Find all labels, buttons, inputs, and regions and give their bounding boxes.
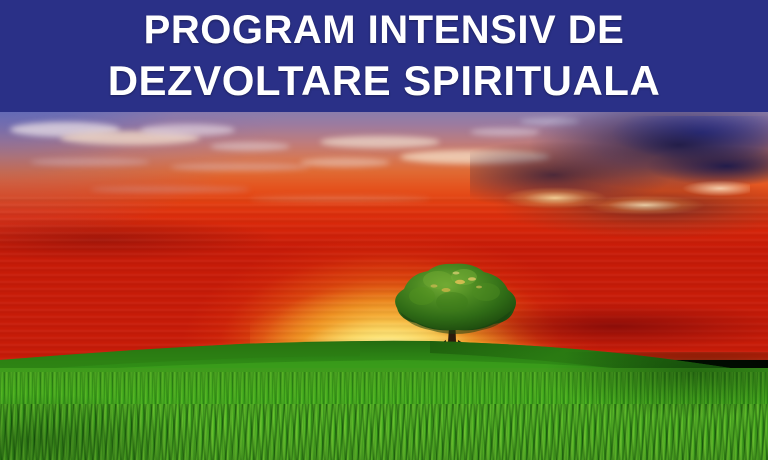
grass-shadow-right <box>520 352 768 422</box>
cloud-wisp <box>140 124 235 136</box>
title-line-2: DEZVOLTARE SPIRITUALA <box>108 60 661 102</box>
cloud-wisp <box>30 158 150 166</box>
title-banner: PROGRAM INTENSIV DE DEZVOLTARE SPIRITUAL… <box>0 0 768 112</box>
title-line-1: PROGRAM INTENSIV DE <box>144 10 625 50</box>
cloud-wisp <box>320 136 440 148</box>
poster: PROGRAM INTENSIV DE DEZVOLTARE SPIRITUAL… <box>0 0 768 460</box>
grass-shadow-left <box>0 392 300 460</box>
